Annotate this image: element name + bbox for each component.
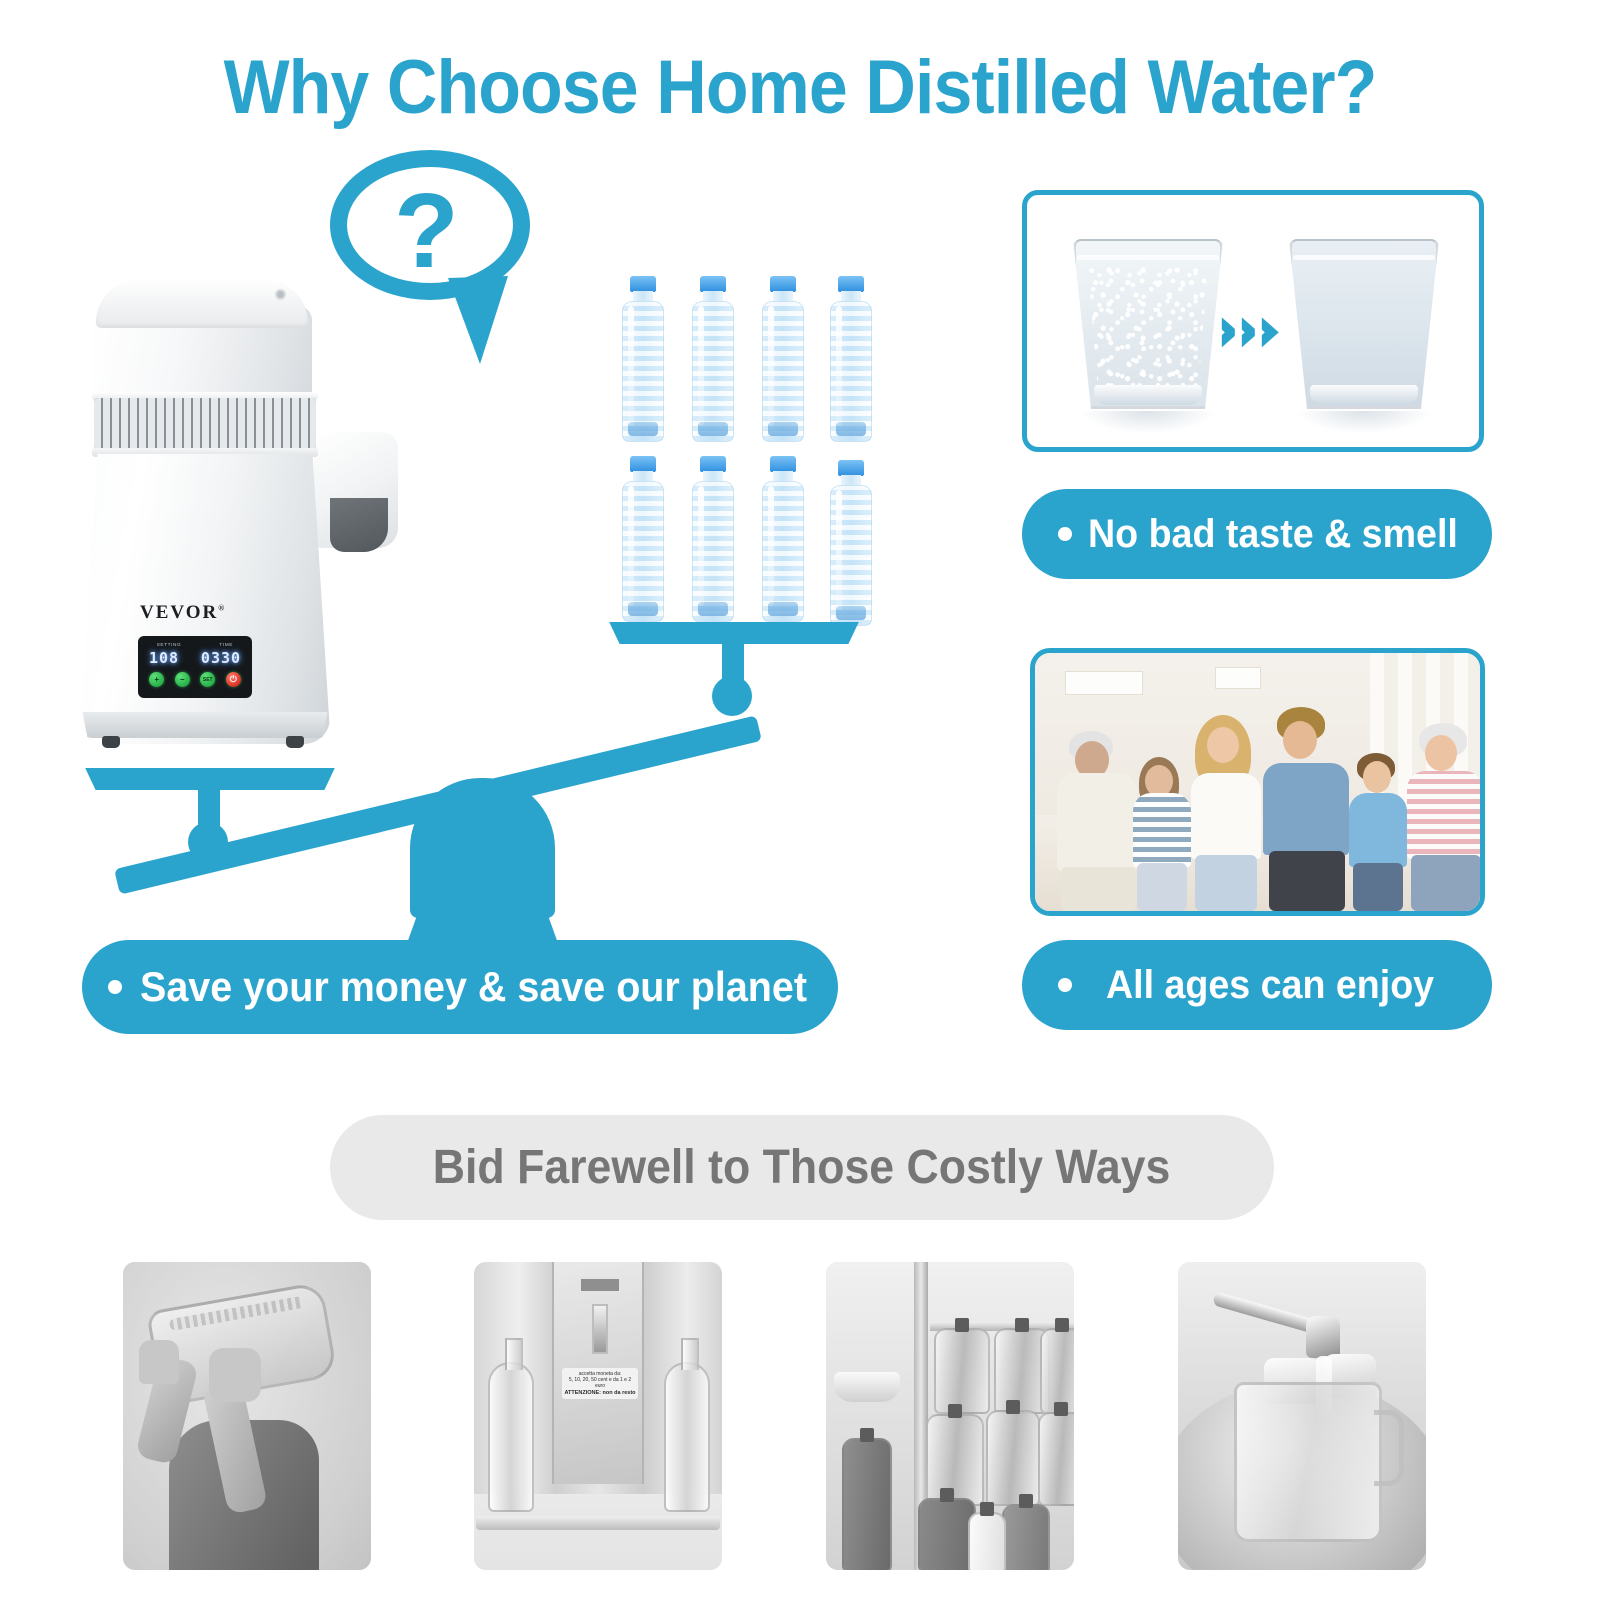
bottle-cap bbox=[700, 276, 726, 292]
bullet-dot bbox=[108, 980, 122, 994]
filter-pitcher bbox=[1234, 1382, 1382, 1542]
bottle-highlight bbox=[836, 306, 842, 426]
coin-display bbox=[578, 1276, 622, 1294]
glass-bottle bbox=[664, 1362, 710, 1512]
glass-base bbox=[1310, 385, 1418, 405]
water-comparison-panel bbox=[1022, 190, 1484, 452]
cloudy-water-glass bbox=[1073, 239, 1223, 409]
glass-bottle bbox=[488, 1362, 534, 1512]
water-jug bbox=[934, 1328, 990, 1414]
costly-way-photo-vending-machine: accetta moneta da: 5, 10, 20, 50 cent e … bbox=[474, 1262, 722, 1570]
seesaw-right-pivot bbox=[712, 676, 752, 716]
benefit-label: No bad taste & smell bbox=[1088, 512, 1458, 557]
chevron-right-icon bbox=[1262, 317, 1279, 347]
faucet-head bbox=[1306, 1316, 1340, 1358]
bottle-highlight bbox=[628, 486, 634, 606]
distiller-spout-nozzle bbox=[330, 498, 388, 552]
legs bbox=[1137, 863, 1187, 911]
vending-machine-panel: accetta moneta da: 5, 10, 20, 50 cent e … bbox=[552, 1262, 644, 1484]
drip-tray bbox=[476, 1516, 720, 1530]
clear-water-glass bbox=[1289, 239, 1439, 409]
glass-body bbox=[1289, 239, 1439, 409]
bottle-cap bbox=[630, 456, 656, 472]
water-surface bbox=[1293, 255, 1435, 260]
water-bottle bbox=[758, 276, 808, 442]
wall-shelf bbox=[1215, 667, 1261, 689]
head bbox=[1283, 721, 1317, 759]
head bbox=[1425, 735, 1457, 771]
water-bottle bbox=[758, 456, 808, 622]
torso bbox=[1349, 793, 1407, 867]
bottle-highlight bbox=[768, 306, 774, 426]
bottle-highlight bbox=[698, 486, 704, 606]
bottle-cap bbox=[838, 460, 864, 476]
torso bbox=[1407, 771, 1483, 859]
distiller-vent-grille bbox=[94, 398, 316, 450]
water-jug bbox=[986, 1410, 1040, 1506]
water-bottle bbox=[688, 276, 738, 442]
family-on-couch-photo bbox=[1035, 653, 1480, 911]
person-father bbox=[1263, 705, 1351, 911]
legs bbox=[1061, 867, 1137, 911]
bottle-highlight bbox=[698, 306, 704, 426]
head bbox=[1363, 761, 1391, 793]
bottle-cap bbox=[770, 276, 796, 292]
head bbox=[1207, 727, 1239, 763]
benefit-pill-all-ages: All ages can enjoy bbox=[1022, 940, 1492, 1030]
bottle-highlight bbox=[768, 486, 774, 606]
legs bbox=[1269, 851, 1345, 911]
bubbles-texture bbox=[1088, 266, 1208, 385]
seesaw-balance-icon bbox=[80, 600, 880, 920]
bottle-highlight bbox=[628, 306, 634, 426]
bottle-cap bbox=[770, 456, 796, 472]
person-girl bbox=[1131, 743, 1193, 911]
plastic-bottles-group bbox=[604, 276, 884, 628]
seesaw-left-pivot bbox=[188, 822, 228, 862]
glass-base bbox=[1094, 385, 1202, 405]
person-grandfather bbox=[1057, 721, 1139, 911]
glass-reflection bbox=[1082, 411, 1214, 433]
page-title: Why Choose Home Distilled Water? bbox=[64, 44, 1536, 131]
bullet-dot bbox=[1058, 978, 1072, 992]
water-jug bbox=[842, 1438, 892, 1570]
section-banner: Bid Farewell to Those Costly Ways bbox=[330, 1115, 1274, 1220]
costly-way-photo-filter-pitcher bbox=[1178, 1262, 1426, 1570]
pitcher-handle bbox=[1374, 1410, 1404, 1486]
triple-chevron-right-icon bbox=[1222, 317, 1282, 347]
water-jug bbox=[1038, 1412, 1074, 1506]
seesaw-fulcrum bbox=[410, 778, 555, 918]
benefit-pill-save-money: Save your money & save our planet bbox=[82, 940, 838, 1034]
water-bottle bbox=[618, 456, 668, 622]
water-jug bbox=[926, 1414, 984, 1506]
benefit-pill-no-bad-taste: No bad taste & smell bbox=[1022, 489, 1492, 579]
sink bbox=[834, 1372, 900, 1402]
wall-shelf bbox=[1065, 671, 1143, 695]
vending-instruction-label: accetta moneta da: 5, 10, 20, 50 cent e … bbox=[562, 1368, 638, 1399]
person-boy bbox=[1347, 735, 1411, 911]
white-bottle bbox=[968, 1512, 1006, 1570]
costly-way-photo-carrying-jug bbox=[123, 1262, 371, 1570]
bullet-dot bbox=[1058, 527, 1072, 541]
bottle-cap bbox=[700, 456, 726, 472]
vending-label-line3: ATTENZIONE: non da resto bbox=[564, 1390, 636, 1396]
legs bbox=[1353, 863, 1403, 911]
person-grandmother bbox=[1407, 715, 1485, 911]
water-bottle bbox=[688, 456, 738, 622]
water-surface bbox=[1077, 255, 1219, 260]
benefit-label: Save your money & save our planet bbox=[140, 963, 807, 1011]
distiller-lid bbox=[96, 280, 308, 328]
torso bbox=[1263, 763, 1349, 855]
coin-slot bbox=[592, 1304, 608, 1354]
hand bbox=[139, 1340, 179, 1384]
glass-reflection bbox=[1298, 411, 1430, 433]
vending-label-line2: 5, 10, 20, 50 cent e da 1 e 2 euro bbox=[564, 1377, 636, 1389]
person-mother bbox=[1187, 711, 1267, 911]
hand bbox=[209, 1348, 261, 1402]
section-banner-label: Bid Farewell to Those Costly Ways bbox=[433, 1140, 1171, 1195]
torso bbox=[1191, 773, 1261, 859]
bottle-cap bbox=[838, 276, 864, 292]
distiller-lid-knob bbox=[275, 289, 286, 300]
bottle-cap bbox=[630, 276, 656, 292]
legs bbox=[1411, 855, 1481, 911]
benefit-label: All ages can enjoy bbox=[1106, 963, 1434, 1008]
bottle-highlight bbox=[836, 490, 842, 610]
torso bbox=[1057, 773, 1137, 871]
family-photo-panel bbox=[1030, 648, 1485, 916]
torso bbox=[1133, 793, 1191, 867]
water-jug bbox=[1002, 1504, 1050, 1570]
legs bbox=[1195, 855, 1257, 911]
water-bottle bbox=[618, 276, 668, 442]
water-bottle bbox=[826, 276, 876, 442]
costly-way-photo-jug-storage bbox=[826, 1262, 1074, 1570]
